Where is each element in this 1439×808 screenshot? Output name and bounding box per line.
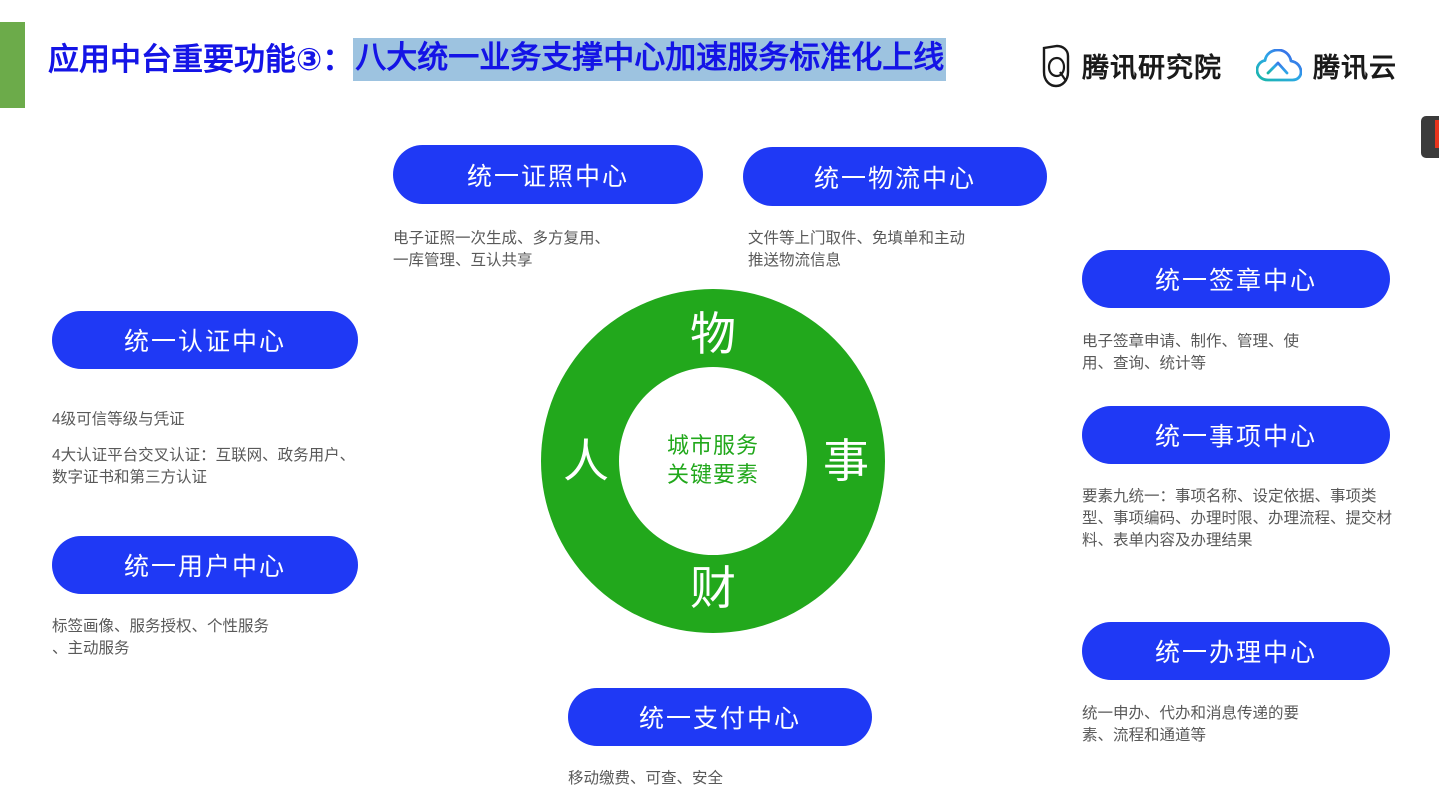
edge-toolbar-handle[interactable] [1421, 116, 1439, 158]
center-desc-zhifu: 移动缴费、可查、安全 [568, 768, 868, 790]
center-pill-renzheng[interactable]: 统一认证中心 [52, 311, 358, 369]
ring-center-hole: 城市服务 关键要素 [619, 367, 807, 555]
center-desc-line1: 4级可信等级与凭证 [52, 411, 185, 428]
ring-label-right: 事 [823, 438, 869, 484]
page-title-highlight: 八大统一业务支撑中心加速服务标准化上线 [353, 38, 946, 81]
center-pill-wuliu[interactable]: 统一物流中心 [743, 147, 1047, 206]
center-pill-yonghu[interactable]: 统一用户中心 [52, 536, 358, 594]
green-accent-bar [0, 22, 25, 108]
center-desc-qianzhang: 电子签章申请、制作、管理、使 用、查询、统计等 [1082, 331, 1387, 375]
logo-tencent-research-institute: 腾讯研究院 [1041, 44, 1222, 93]
tencent-research-institute-icon [1041, 44, 1071, 93]
ring-center-line1: 城市服务 [667, 432, 759, 461]
center-pill-label: 统一证照中心 [467, 157, 629, 193]
center-desc-yonghu: 标签画像、服务授权、个性服务 、主动服务 [52, 616, 357, 660]
center-desc-banli: 统一申办、代办和消息传递的要 素、流程和通道等 [1082, 703, 1387, 747]
center-pill-zhengzhao[interactable]: 统一证照中心 [393, 145, 703, 204]
center-pill-label: 统一用户中心 [124, 547, 286, 583]
ring-center-line2: 关键要素 [667, 461, 759, 490]
tencent-cloud-icon [1256, 49, 1302, 88]
page-title: 应用中台重要功能③： 八大统一业务支撑中心加速服务标准化上线 [48, 38, 946, 81]
center-pill-label: 统一办理中心 [1155, 633, 1317, 669]
center-pill-qianzhang[interactable]: 统一签章中心 [1082, 250, 1390, 308]
slide-canvas: 应用中台重要功能③： 八大统一业务支撑中心加速服务标准化上线 腾讯研究院 [0, 0, 1439, 808]
center-pill-label: 统一物流中心 [814, 159, 976, 195]
center-desc-wuliu: 文件等上门取件、免填单和主动 推送物流信息 [748, 228, 1038, 272]
logo-label-tencent-cloud: 腾讯云 [1313, 55, 1397, 82]
logo-tencent-cloud: 腾讯云 [1256, 49, 1397, 88]
center-pill-zhifu[interactable]: 统一支付中心 [568, 688, 872, 746]
center-ring-diagram: 物 事 财 人 城市服务 关键要素 [541, 289, 885, 633]
center-pill-shixiang[interactable]: 统一事项中心 [1082, 406, 1390, 464]
center-pill-banli[interactable]: 统一办理中心 [1082, 622, 1390, 680]
ring-label-top: 物 [690, 311, 736, 357]
center-desc-zhengzhao: 电子证照一次生成、多方复用、 一库管理、互认共享 [393, 228, 693, 272]
center-pill-label: 统一支付中心 [639, 699, 801, 735]
page-title-plain: 应用中台重要功能③： [48, 44, 353, 75]
center-desc-renzheng: 4级可信等级与凭证 4大认证平台交叉认证：互联网、政务用户、数字证书和第三方认证 [52, 387, 357, 511]
logo-label-research-institute: 腾讯研究院 [1082, 55, 1222, 82]
ring-label-left: 人 [563, 438, 609, 484]
center-desc-line2: 4大认证平台交叉认证：互联网、政务用户、数字证书和第三方认证 [52, 445, 357, 489]
center-pill-label: 统一事项中心 [1155, 417, 1317, 453]
center-pill-label: 统一认证中心 [124, 322, 286, 358]
edge-toolbar-accent [1435, 120, 1439, 148]
center-pill-label: 统一签章中心 [1155, 261, 1317, 297]
logo-group: 腾讯研究院 腾讯云 [1041, 44, 1397, 93]
center-desc-shixiang: 要素九统一：事项名称、设定依据、事项类型、事项编码、办理时限、办理流程、提交材料… [1082, 486, 1392, 552]
ring-label-bottom: 财 [690, 565, 736, 611]
